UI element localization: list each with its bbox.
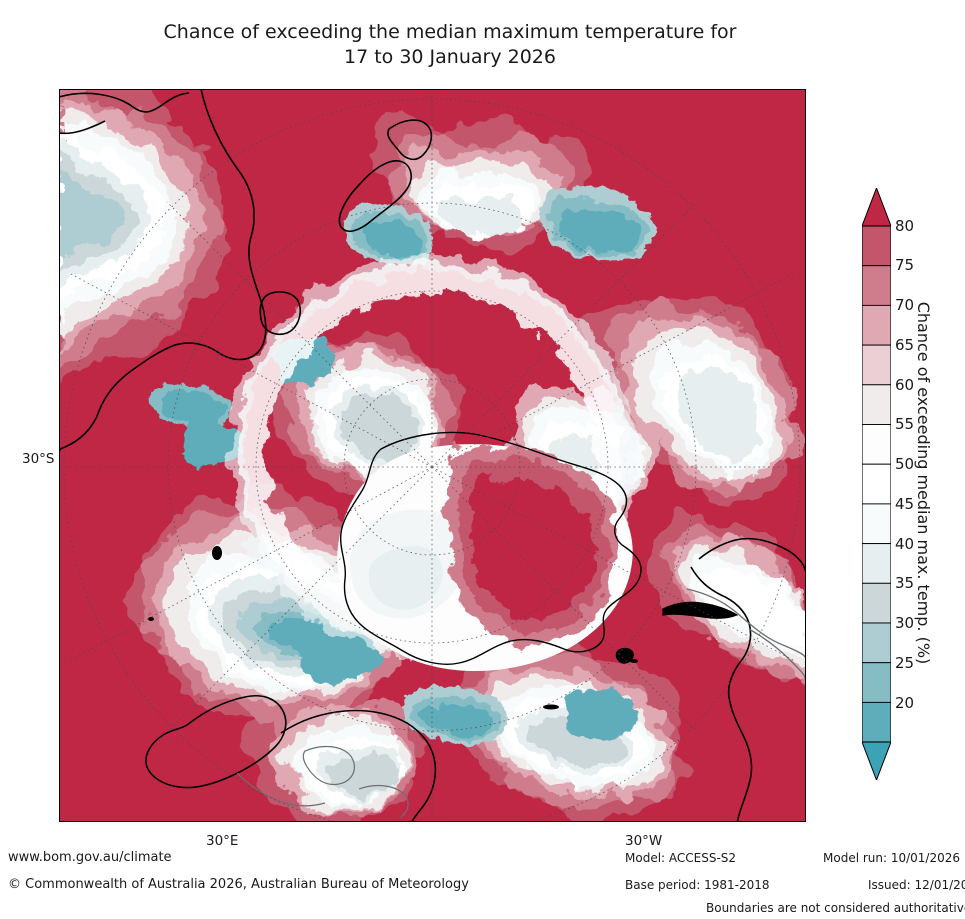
longitude-label-30e: 30°E [206,833,238,849]
polar-stereographic-map[interactable] [59,89,806,822]
colorbar-swatches [862,188,891,780]
footer-issued-date: Issued: 12/01/2026 [868,878,965,892]
footer-website-url[interactable]: www.bom.gov.au/climate [8,850,172,865]
title-line-1: Chance of exceeding the median maximum t… [0,20,900,45]
footer-disclaimer: Boundaries are not considered authoritat… [706,901,965,915]
longitude-label-30w: 30°W [625,833,662,849]
footer-base-period: Base period: 1981-2018 [625,878,770,892]
page-title: Chance of exceeding the median maximum t… [0,20,900,70]
footer-copyright: © Commonwealth of Australia 2026, Austra… [8,877,469,892]
latitude-label-30s: 30°S [22,451,55,467]
colorbar[interactable] [862,188,891,780]
colorbar-axis-label: Chance of exceeding median max. temp. (%… [905,243,933,723]
colorbar-tick-80: 80 [895,217,914,235]
footer-model-run: Model run: 10/01/2026 [823,851,960,865]
title-line-2: 17 to 30 January 2026 [0,45,900,70]
footer-model: Model: ACCESS-S2 [625,851,736,865]
map-panel[interactable] [59,89,806,822]
